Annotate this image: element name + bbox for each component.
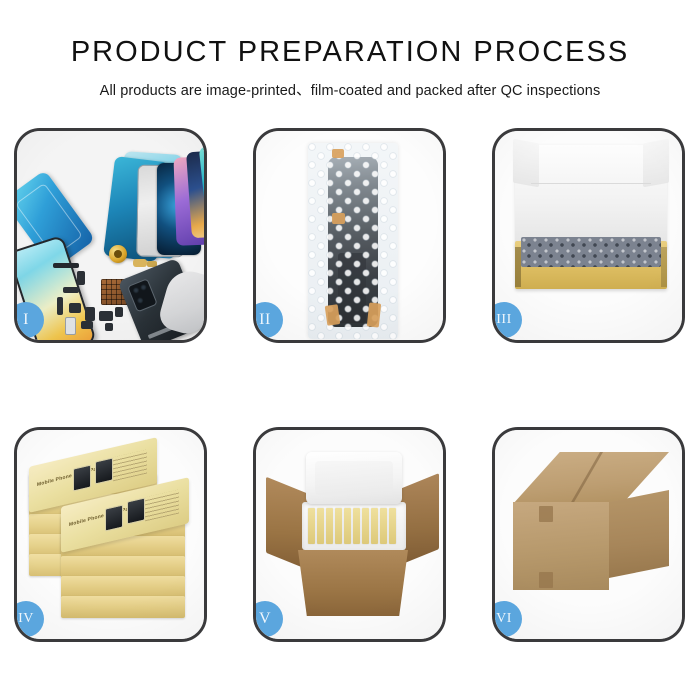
box-print-phone-icon (73, 464, 91, 491)
box-print-phone-icon (95, 457, 113, 484)
spare-part-icon (57, 297, 63, 315)
box-lid-icon (515, 145, 667, 249)
packed-box-icon (344, 508, 351, 544)
packed-box-icon (335, 508, 342, 544)
box-layer (61, 576, 185, 598)
spare-part-icon (65, 317, 76, 335)
tape-icon (332, 149, 344, 158)
lid-flap-right (643, 139, 669, 188)
step-image-parts-assortment (17, 131, 204, 340)
packed-box-icon (326, 508, 333, 544)
foam-lid-icon (306, 452, 402, 504)
tape-icon (332, 213, 345, 224)
carton-front-face (513, 502, 609, 590)
bubble-texture (308, 143, 398, 339)
packed-box-icon (371, 508, 378, 544)
spare-part-icon (85, 307, 95, 321)
box-print-phone-icon (105, 504, 123, 531)
step-panel-carton-sealed: VI (492, 427, 685, 642)
box-print-phone-icon (127, 497, 145, 524)
spare-part-icon (105, 323, 113, 331)
packed-box-icon (389, 508, 396, 544)
step-image-carton-sealed (495, 430, 682, 639)
tape-icon (325, 304, 341, 326)
step-image-bubble-wrap (256, 131, 443, 340)
step-panel-bubble-wrap: II (253, 128, 446, 343)
spare-part-icon (133, 259, 147, 267)
step-panel-carton-packing: V (253, 427, 446, 642)
box-print-text-lines (145, 490, 179, 522)
camera-module-icon (127, 278, 158, 312)
spare-part-icon (69, 303, 81, 313)
carton-side-face (609, 490, 669, 578)
infographic-page: PRODUCT PREPARATION PROCESS All products… (0, 0, 700, 700)
page-subtitle: All products are image-printed、film-coat… (0, 79, 700, 100)
spare-part-icon (63, 287, 79, 293)
tape-icon (367, 302, 381, 327)
step-panel-inner-box: III (492, 128, 685, 343)
copper-coil-icon (109, 245, 127, 263)
step-image-boxes-stacked: Mobile Phone Spare Parts Mobile Phone Sp… (17, 430, 204, 639)
foam-padding-icon (521, 237, 661, 267)
page-title: PRODUCT PREPARATION PROCESS (0, 36, 700, 69)
packed-box-icon (317, 508, 324, 544)
packed-box-icon (380, 508, 387, 544)
carton-tape-icon (539, 572, 553, 588)
packed-box-icon (353, 508, 360, 544)
box-print-label: Mobile Phone Spare Parts (69, 504, 136, 528)
box-print-label: Mobile Phone Spare Parts (37, 464, 104, 488)
box-stack: Mobile Phone Spare Parts Mobile Phone Sp… (23, 448, 203, 628)
header: PRODUCT PREPARATION PROCESS All products… (0, 0, 700, 100)
box-layer (61, 556, 185, 578)
tray-edge-right (661, 247, 667, 287)
step-image-inner-box (495, 131, 682, 340)
spare-part-icon (53, 263, 79, 268)
step-image-carton-packing (256, 430, 443, 639)
spare-part-icon (115, 307, 123, 317)
spare-part-icon (77, 271, 85, 285)
steps-row-2: Mobile Phone Spare Parts Mobile Phone Sp… (14, 427, 686, 642)
steps-grid: I (14, 128, 686, 642)
carton-body (298, 550, 408, 616)
bubble-bag (308, 143, 398, 339)
lid-flap-left (513, 139, 539, 188)
packed-box-icon (362, 508, 369, 544)
lid-fold-line (531, 183, 651, 184)
spare-part-icon (99, 311, 113, 321)
box-print-text-lines (113, 450, 147, 482)
carton-tape-icon (539, 506, 553, 522)
carton-seam (570, 452, 603, 504)
box-layer (61, 596, 185, 618)
steps-row-1: I (14, 128, 686, 343)
packed-box-icon (308, 508, 315, 544)
spare-part-icon (81, 321, 93, 329)
step-panel-boxes-stacked: Mobile Phone Spare Parts Mobile Phone Sp… (14, 427, 207, 642)
step-panel-parts-assortment: I (14, 128, 207, 343)
